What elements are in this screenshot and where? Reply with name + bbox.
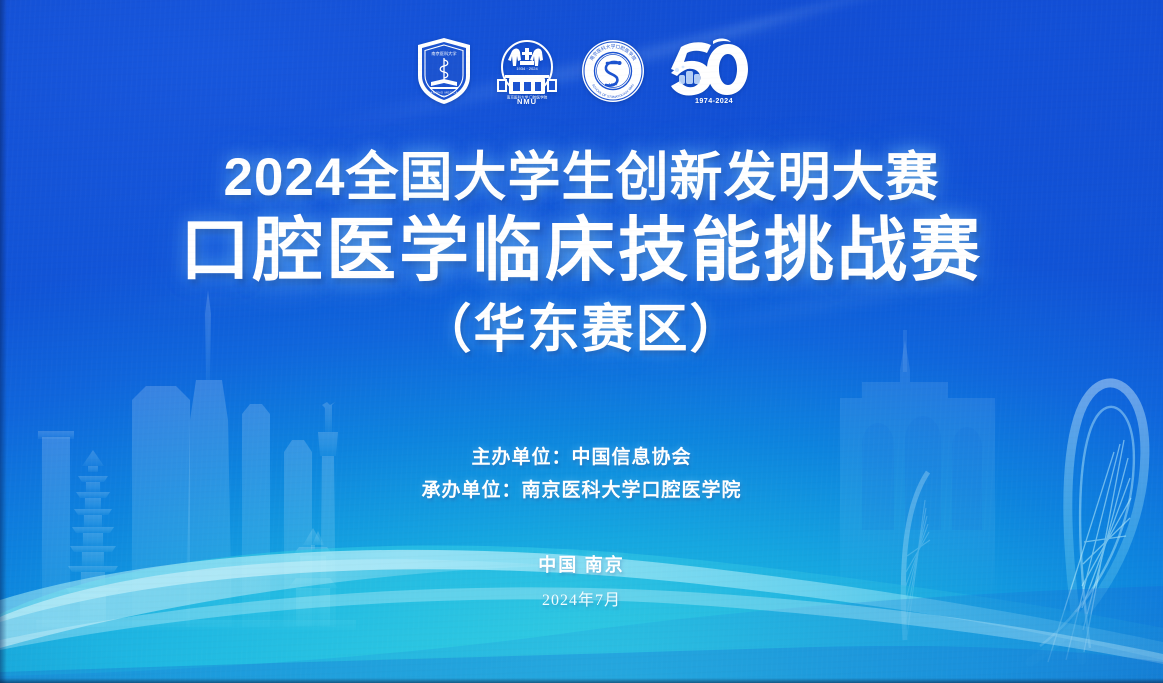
svg-text:南京医科大学: 南京医科大学 [431, 50, 456, 57]
host-organization: 主办单位：中国信息协会 [0, 442, 1163, 475]
event-title-region: （华东赛区） [0, 300, 1163, 362]
organizer-block: 主办单位：中国信息协会 承办单位：南京医科大学口腔医学院 [0, 442, 1163, 507]
event-location: 中国 南京 [0, 556, 1163, 576]
svg-text:NANJING MEDICAL: NANJING MEDICAL [428, 91, 460, 95]
svg-text:NMU: NMU [516, 97, 536, 105]
svg-text:1974: 1974 [608, 82, 618, 87]
nmu-gate-logo: 1934 · 2024 南京医科大学 口腔医学院 NMU [495, 37, 559, 105]
footer-block: 中国 南京 2024年7月 [0, 556, 1163, 609]
logo-row: 南京医科大学 NANJING MEDICAL 1934 [0, 36, 1163, 106]
stomatology-school-circular-logo: 南京医科大学口腔医学院 SCHOOL OF STOMATOLOGY NMU 19… [581, 39, 645, 103]
event-date: 2024年7月 [0, 592, 1163, 610]
fifty-anniversary-logo: 1974-2024 [667, 37, 749, 105]
nanjing-medical-university-shield-logo: 南京医科大学 NANJING MEDICAL 1934 [415, 36, 473, 106]
event-backdrop: 南京医科大学 NANJING MEDICAL 1934 [0, 0, 1163, 683]
svg-text:1934: 1934 [441, 94, 447, 98]
svg-text:1974-2024: 1974-2024 [695, 96, 733, 105]
title-block: 2024全国大学生创新发明大赛 口腔医学临床技能挑战赛 （华东赛区） [0, 148, 1163, 362]
event-title-line2: 口腔医学临床技能挑战赛 [0, 211, 1163, 294]
co-host-organization: 承办单位：南京医科大学口腔医学院 [0, 475, 1163, 508]
event-title-line1: 2024全国大学生创新发明大赛 [0, 148, 1163, 207]
svg-text:1934 · 2024: 1934 · 2024 [516, 66, 538, 71]
